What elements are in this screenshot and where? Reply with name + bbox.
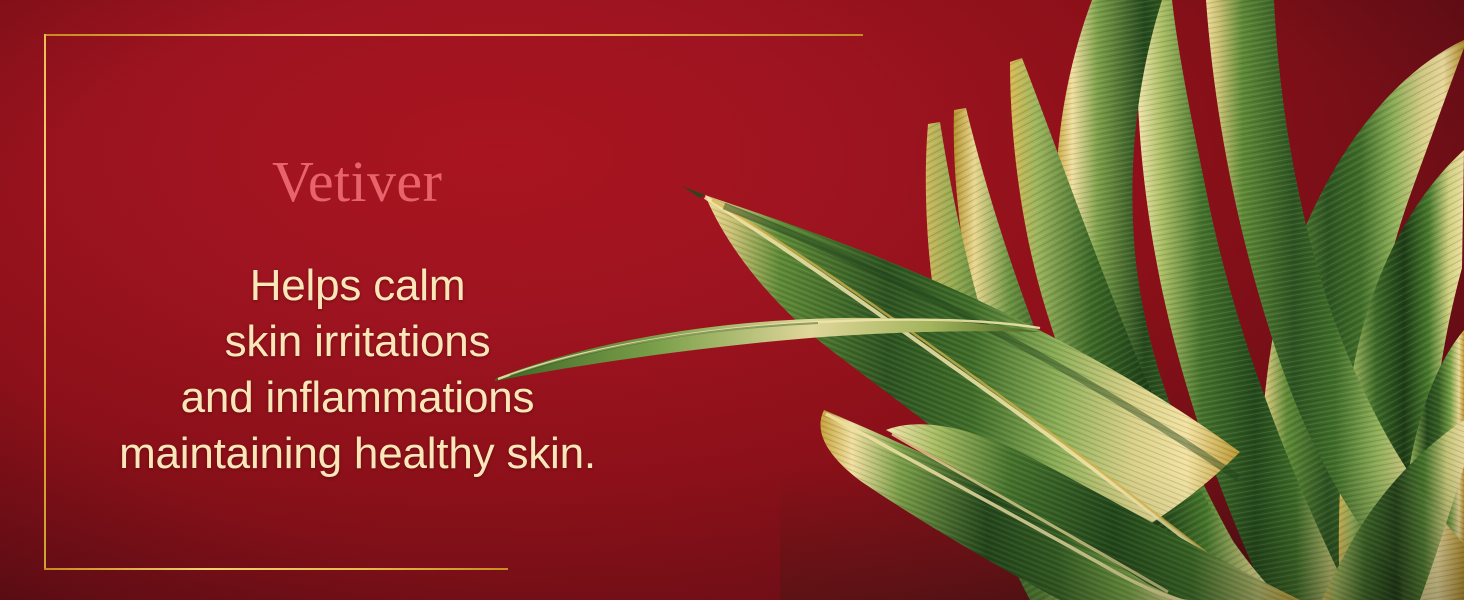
ingredient-description: Helps calm skin irritations and inflamma… [0,258,715,482]
description-line-3: and inflammations [0,370,715,426]
description-line-1: Helps calm [0,258,715,314]
description-line-2: skin irritations [0,314,715,370]
description-line-4: maintaining healthy skin. [0,426,715,482]
ingredient-title: Vetiver [272,153,442,211]
vetiver-promo-banner: Vetiver Helps calm skin irritations and … [0,0,1464,600]
